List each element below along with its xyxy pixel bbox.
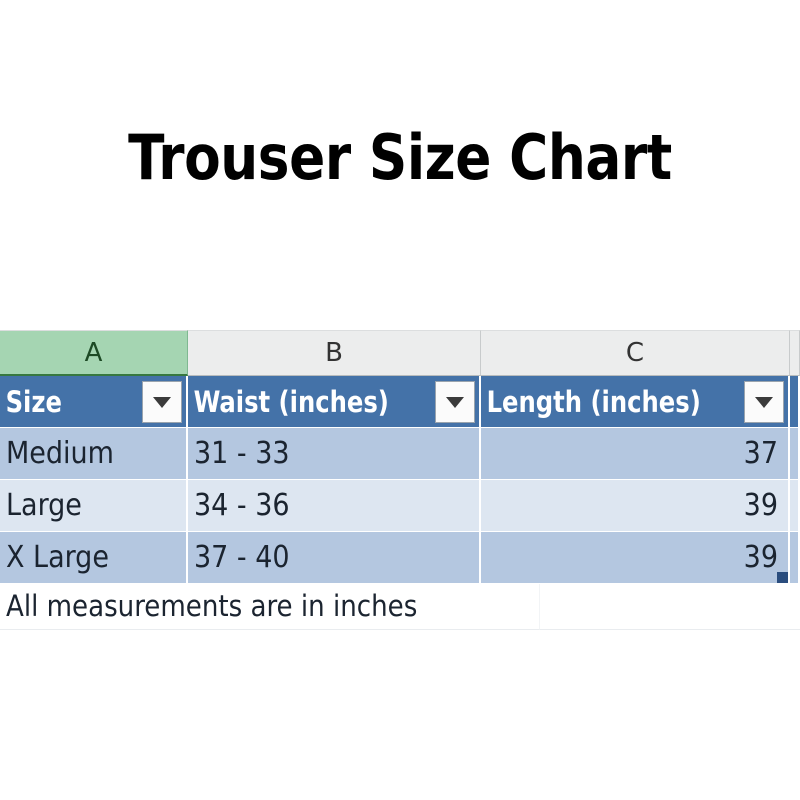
table-row: Large 34 - 36 39 (0, 480, 800, 532)
cell-overflow (790, 532, 800, 584)
cell-waist[interactable]: 34 - 36 (188, 480, 481, 532)
header-cell-size[interactable]: Size (0, 376, 188, 428)
cell-overflow (790, 428, 800, 480)
cell-waist[interactable]: 37 - 40 (188, 532, 481, 584)
filter-dropdown-arrow-icon-size[interactable] (142, 381, 182, 423)
cell-length[interactable]: 37 (481, 428, 790, 480)
fill-handle[interactable] (777, 572, 788, 583)
spreadsheet-table: A B C Size Waist (inches) Length (inches… (0, 330, 800, 630)
table-row: X Large 37 - 40 39 (0, 532, 800, 584)
header-cell-waist[interactable]: Waist (inches) (188, 376, 481, 428)
cell-size[interactable]: Large (0, 480, 188, 532)
cell-length-value: 39 (744, 542, 778, 574)
column-header-c[interactable]: C (481, 330, 790, 376)
header-cell-length[interactable]: Length (inches) (481, 376, 790, 428)
filter-dropdown-arrow-icon-waist[interactable] (435, 381, 475, 423)
header-label-size: Size (0, 387, 62, 417)
column-header-overflow (790, 330, 800, 376)
header-cell-overflow (790, 376, 800, 428)
filter-dropdown-arrow-icon-length[interactable] (744, 381, 784, 423)
cell-waist[interactable]: 31 - 33 (188, 428, 481, 480)
footnote-blank-cell[interactable] (540, 584, 800, 630)
cell-length[interactable]: 39 (481, 532, 790, 584)
cell-size[interactable]: X Large (0, 532, 188, 584)
cell-length[interactable]: 39 (481, 480, 790, 532)
header-label-waist: Waist (inches) (188, 387, 389, 417)
chevron-down-icon (153, 397, 171, 408)
table-footnote-row: All measurements are in inches (0, 584, 800, 630)
page-title: Trouser Size Chart (56, 122, 744, 194)
chevron-down-icon (446, 397, 464, 408)
column-header-strip: A B C (0, 330, 800, 376)
cell-size[interactable]: Medium (0, 428, 188, 480)
footnote-text[interactable]: All measurements are in inches (0, 584, 540, 630)
table-row: Medium 31 - 33 37 (0, 428, 800, 480)
chevron-down-icon (755, 397, 773, 408)
column-header-b[interactable]: B (188, 330, 481, 376)
header-label-length: Length (inches) (481, 387, 701, 417)
table-header-row: Size Waist (inches) Length (inches) (0, 376, 800, 428)
column-header-a[interactable]: A (0, 330, 188, 376)
cell-overflow (790, 480, 800, 532)
